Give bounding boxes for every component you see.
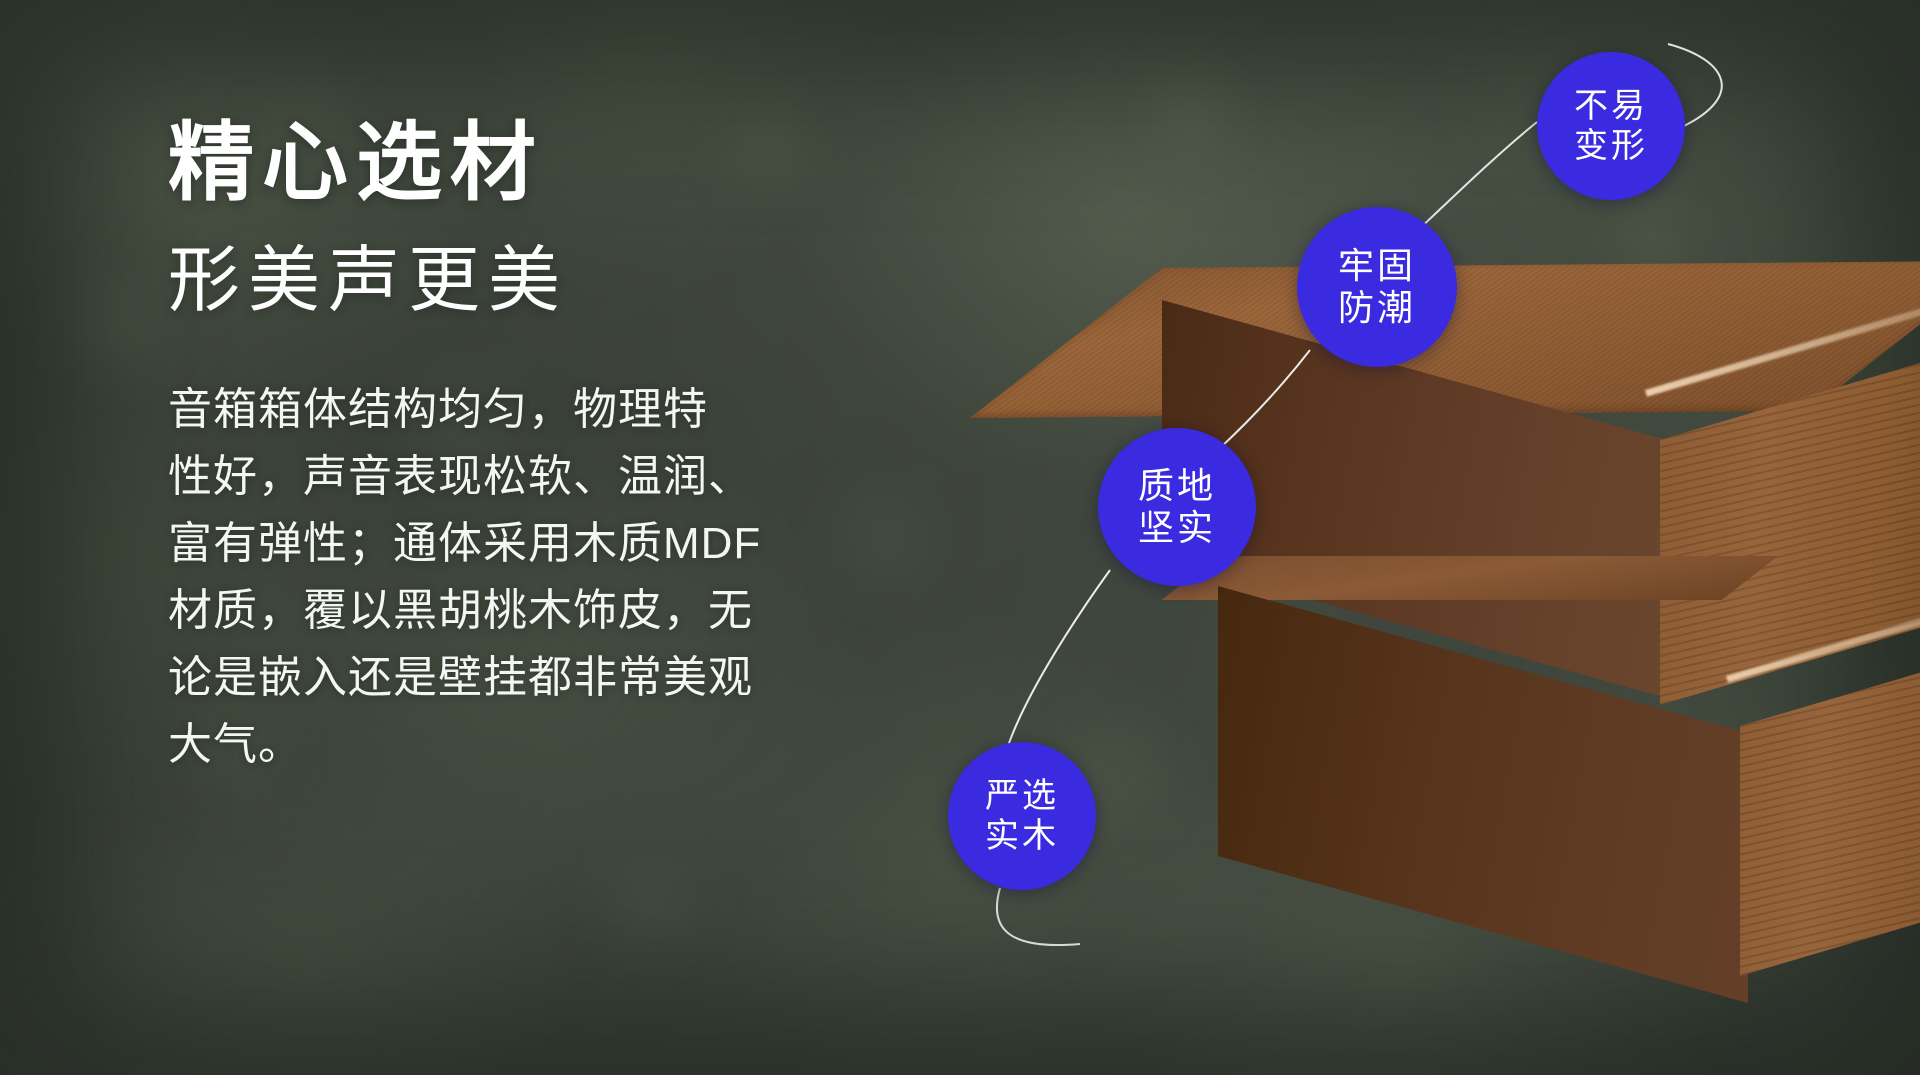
feature-badge-solid-texture: 质地 坚实: [1098, 428, 1256, 586]
badge-label-line1: 质地: [1138, 465, 1216, 507]
copy-block: 精心选材 形美声更美 音箱箱体结构均匀，物理特 性好，声音表现松软、温润、 富有…: [168, 118, 888, 779]
body-line: 性好，声音表现松软、温润、: [168, 444, 888, 511]
page-subtitle: 形美声更美: [168, 242, 888, 321]
body-line: 音箱箱体结构均匀，物理特: [168, 377, 888, 444]
promo-banner: 精心选材 形美声更美 音箱箱体结构均匀，物理特 性好，声音表现松软、温润、 富有…: [0, 0, 1920, 1075]
feature-badge-sturdy-moistureproof: 牢固 防潮: [1297, 207, 1457, 367]
body-paragraph: 音箱箱体结构均匀，物理特 性好，声音表现松软、温润、 富有弹性；通体采用木质MD…: [168, 377, 888, 778]
badge-label-line1: 不易: [1574, 86, 1648, 126]
body-line: 论是嵌入还是壁挂都非常美观: [168, 645, 888, 712]
badge-label-line1: 严选: [985, 776, 1059, 816]
bottom-cabinet-side-grain: [1740, 642, 1920, 976]
badge-label-line2: 防潮: [1338, 287, 1416, 329]
body-line: 大气。: [168, 712, 888, 779]
bottom-cabinet-side-face: [1740, 642, 1920, 976]
feature-badge-selected-solid-wood: 严选 实木: [948, 742, 1096, 890]
bottom-cabinet-top-face: [1162, 556, 1778, 600]
feature-badge-no-deform: 不易 变形: [1537, 52, 1685, 200]
body-line: 材质，覆以黑胡桃木饰皮，无: [168, 578, 888, 645]
body-line: 富有弹性；通体采用木质MDF: [168, 511, 888, 578]
badge-label-line2: 实木: [985, 816, 1059, 856]
page-title: 精心选材: [168, 118, 888, 208]
badge-label-line1: 牢固: [1338, 245, 1416, 287]
badge-label-line2: 变形: [1574, 126, 1648, 166]
badge-label-line2: 坚实: [1138, 507, 1216, 549]
